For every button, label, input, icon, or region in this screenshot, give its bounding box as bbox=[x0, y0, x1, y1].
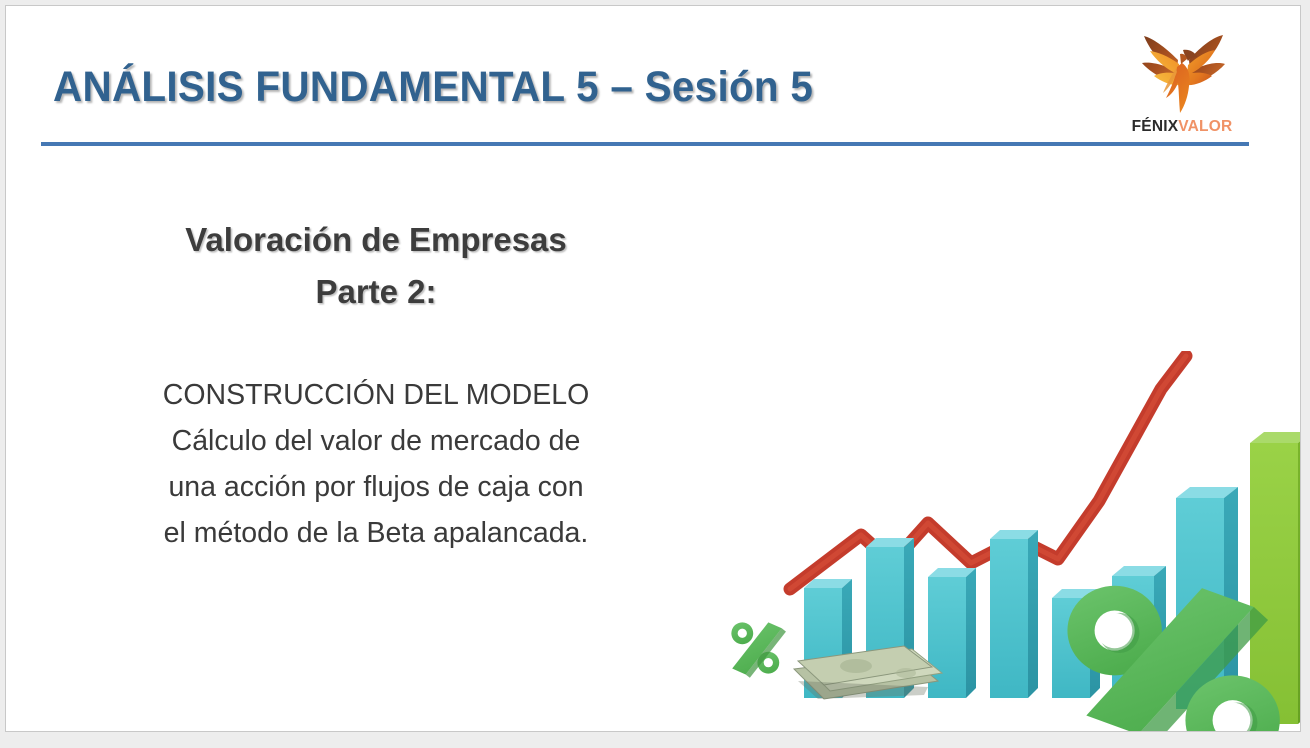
brand-logo: FÉNIXVALOR bbox=[1128, 20, 1236, 142]
body-paragraph: CONSTRUCCIÓN DEL MODELO Cálculo del valo… bbox=[51, 372, 701, 556]
green-bar-column bbox=[1250, 432, 1301, 724]
paragraph-line: Cálculo del valor de mercado de bbox=[51, 418, 701, 464]
page-title: ANÁLISIS FUNDAMENTAL 5 – Sesión 5 bbox=[53, 63, 813, 112]
heading-line-2: Parte 2: bbox=[66, 266, 686, 318]
percent-symbol-large-icon bbox=[1067, 586, 1279, 732]
brand-word-valor: VALOR bbox=[1178, 118, 1232, 135]
paragraph-line: una acción por flujos de caja con bbox=[51, 464, 701, 510]
trend-line-red bbox=[790, 356, 1186, 589]
paragraph-line: el método de la Beta apalancada. bbox=[51, 510, 701, 556]
brand-wordmark: FÉNIXVALOR bbox=[1128, 118, 1236, 136]
paragraph-line: CONSTRUCCIÓN DEL MODELO bbox=[51, 372, 701, 418]
slide-canvas: ANÁLISIS FUNDAMENTAL 5 – Sesión 5 bbox=[5, 5, 1301, 732]
growth-chart-illustration bbox=[706, 351, 1301, 732]
heading-line-1: Valoración de Empresas bbox=[66, 214, 686, 266]
bar-column bbox=[990, 530, 1038, 698]
brand-word-fenix: FÉNIX bbox=[1132, 118, 1179, 135]
subtitle-heading: Valoración de Empresas Parte 2: bbox=[66, 214, 686, 318]
phoenix-icon bbox=[1134, 20, 1232, 116]
title-divider bbox=[41, 142, 1249, 146]
percent-symbol-small-icon bbox=[731, 622, 786, 677]
